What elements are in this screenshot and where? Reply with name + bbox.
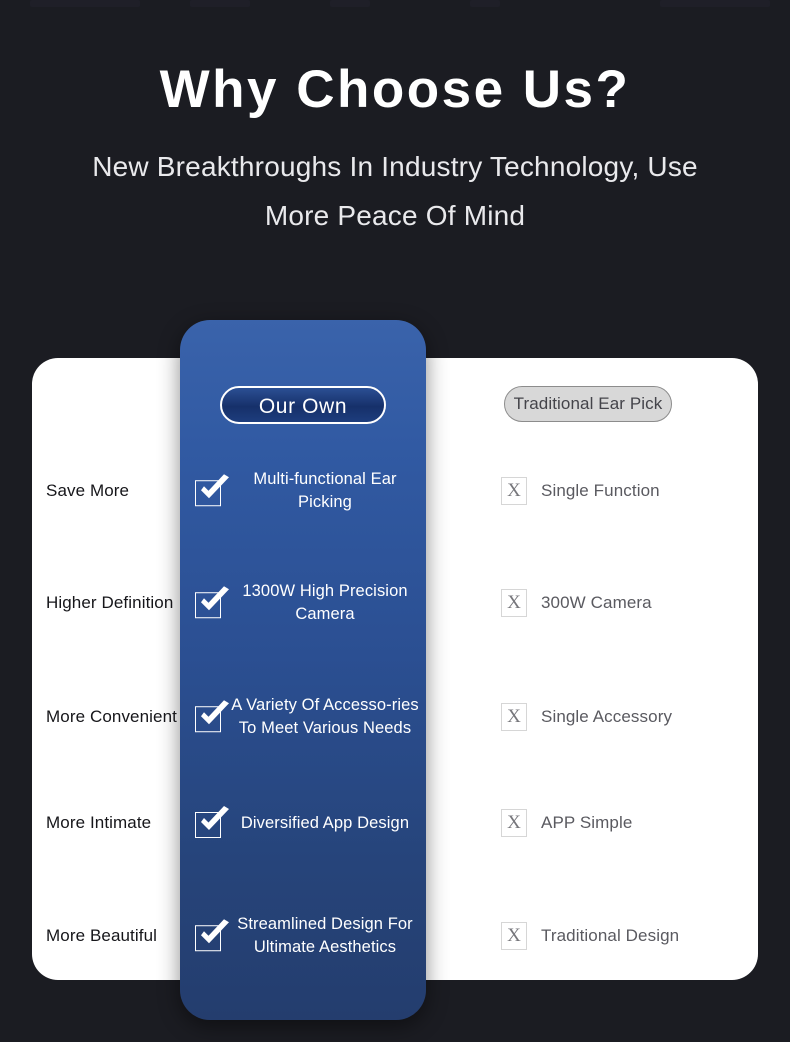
our-cell: Streamlined Design For Ultimate Aestheti… xyxy=(195,913,423,959)
traditional-feature-text: APP Simple xyxy=(541,813,632,833)
our-cell: Diversified App Design xyxy=(195,808,423,838)
our-cell: 1300W High Precision Camera xyxy=(195,580,423,626)
our-feature-text: Diversified App Design xyxy=(227,812,423,835)
x-icon: X xyxy=(501,703,527,731)
traditional-cell: X Traditional Design xyxy=(501,922,751,950)
our-feature-text: Streamlined Design For Ultimate Aestheti… xyxy=(227,913,423,959)
benefit-label: Save More xyxy=(46,481,186,501)
x-icon: X xyxy=(501,477,527,505)
check-icon xyxy=(195,702,225,732)
traditional-feature-text: 300W Camera xyxy=(541,593,652,613)
benefit-label: More Intimate xyxy=(46,813,186,833)
check-icon xyxy=(195,921,225,951)
our-cell: Multi-functional Ear Picking xyxy=(195,468,423,514)
our-own-pill: Our Own xyxy=(220,386,386,424)
our-cell: A Variety Of Accesso-ries To Meet Variou… xyxy=(195,694,423,740)
x-icon: X xyxy=(501,922,527,950)
traditional-cell: X 300W Camera xyxy=(501,589,751,617)
our-feature-text: Multi-functional Ear Picking xyxy=(227,468,423,514)
traditional-cell: X Single Function xyxy=(501,477,751,505)
traditional-cell: X Single Accessory xyxy=(501,703,751,731)
benefit-label: Higher Definition xyxy=(46,593,186,613)
our-feature-text: 1300W High Precision Camera xyxy=(227,580,423,626)
traditional-feature-text: Single Accessory xyxy=(541,707,672,727)
x-icon: X xyxy=(501,589,527,617)
check-icon xyxy=(195,808,225,838)
x-icon: X xyxy=(501,809,527,837)
traditional-feature-text: Traditional Design xyxy=(541,926,679,946)
traditional-ear-pick-pill: Traditional Ear Pick xyxy=(504,386,672,422)
comparison-table: Our Own Traditional Ear Pick Save More M… xyxy=(0,0,790,1042)
benefit-label: More Beautiful xyxy=(46,926,186,946)
our-feature-text: A Variety Of Accesso-ries To Meet Variou… xyxy=(227,694,423,740)
benefit-label: More Convenient xyxy=(46,707,186,727)
traditional-cell: X APP Simple xyxy=(501,809,751,837)
traditional-feature-text: Single Function xyxy=(541,481,660,501)
check-icon xyxy=(195,588,225,618)
check-icon xyxy=(195,476,225,506)
